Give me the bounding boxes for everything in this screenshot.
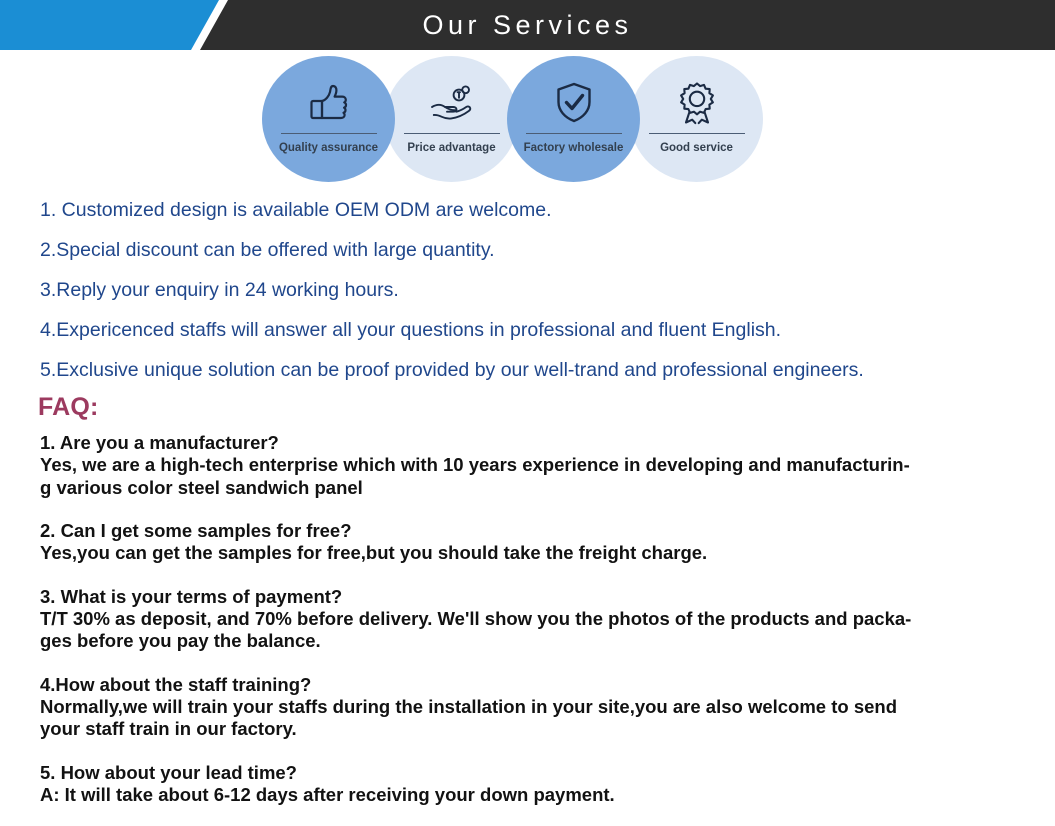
faq-item: 3. What is your terms of payment? T/T 30… xyxy=(40,586,1015,653)
feature-label: Quality assurance xyxy=(279,142,378,155)
service-item: 4.Expericenced staffs will answer all yo… xyxy=(40,310,1020,350)
feature-label: Factory wholesale xyxy=(524,142,624,155)
hand-coins-icon xyxy=(426,79,478,127)
faq-item: 5. How about your lead time? A: It will … xyxy=(40,762,1015,807)
faq-question: 2. Can I get some samples for free? xyxy=(40,520,1015,542)
service-item: 5.Exclusive unique solution can be proof… xyxy=(40,350,1020,390)
faq-heading: FAQ: xyxy=(38,393,99,422)
faq-question: 1. Are you a manufacturer? xyxy=(40,432,1015,454)
thumbs-up-icon xyxy=(303,79,355,127)
feature-factory-wholesale: Factory wholesale xyxy=(507,56,640,182)
feature-divider xyxy=(281,133,377,134)
feature-divider xyxy=(526,133,622,134)
faq-answer: Yes, we are a high-tech enterprise which… xyxy=(40,454,1015,499)
service-item: 2.Special discount can be offered with l… xyxy=(40,230,1020,270)
header-banner: Our Services xyxy=(0,0,1055,50)
feature-label: Price advantage xyxy=(407,142,495,155)
faq-item: 1. Are you a manufacturer? Yes, we are a… xyxy=(40,432,1015,499)
shield-check-icon xyxy=(548,79,600,127)
faq-question: 4.How about the staff training? xyxy=(40,674,1015,696)
feature-divider xyxy=(649,133,745,134)
faq-answer: Yes,you can get the samples for free,but… xyxy=(40,542,1015,565)
faq-answer: T/T 30% as deposit, and 70% before deliv… xyxy=(40,608,1015,653)
feature-divider xyxy=(404,133,500,134)
service-item: 3.Reply your enquiry in 24 working hours… xyxy=(40,270,1020,310)
faq-item: 4.How about the staff training? Normally… xyxy=(40,674,1015,741)
feature-circles: Quality assurance Price advantage xyxy=(262,56,762,182)
faq-list: 1. Are you a manufacturer? Yes, we are a… xyxy=(40,432,1015,806)
award-badge-icon xyxy=(671,79,723,127)
services-list: 1. Customized design is available OEM OD… xyxy=(40,190,1020,390)
service-item: 1. Customized design is available OEM OD… xyxy=(40,190,1020,230)
services-page: Our Services Quality assurance xyxy=(0,0,1055,826)
feature-price-advantage: Price advantage xyxy=(385,56,518,182)
feature-quality-assurance: Quality assurance xyxy=(262,56,395,182)
faq-question: 3. What is your terms of payment? xyxy=(40,586,1015,608)
faq-answer: A: It will take about 6-12 days after re… xyxy=(40,784,1015,807)
faq-question: 5. How about your lead time? xyxy=(40,762,1015,784)
feature-label: Good service xyxy=(660,142,733,155)
faq-item: 2. Can I get some samples for free? Yes,… xyxy=(40,520,1015,565)
feature-good-service: Good service xyxy=(630,56,763,182)
page-title: Our Services xyxy=(0,0,1055,50)
faq-answer: Normally,we will train your staffs durin… xyxy=(40,696,1015,741)
